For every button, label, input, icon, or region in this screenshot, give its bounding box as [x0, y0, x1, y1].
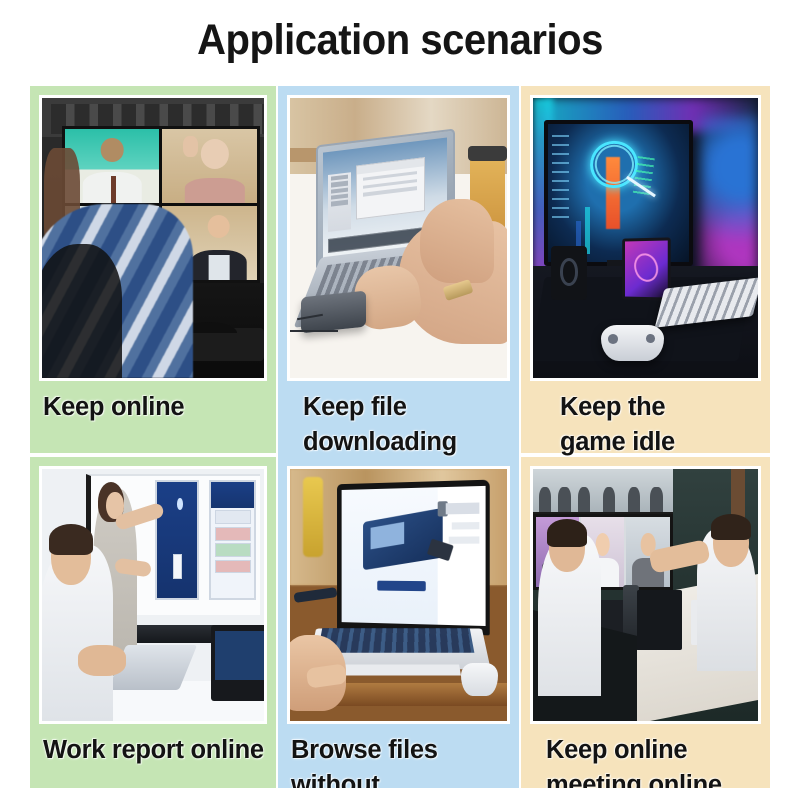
- caption-line-2: meeting online: [546, 768, 761, 788]
- scenario-card-work-report-online[interactable]: Work report online: [30, 457, 276, 788]
- meeting-room-illustration: [533, 469, 758, 721]
- scenario-caption-work-report-online: Work report online: [39, 733, 267, 768]
- scenario-photo-keep-file-downloading: [287, 95, 510, 381]
- scenario-caption-keep-the-game-idle: Keep the game idle: [530, 390, 761, 457]
- laptop-wooden-table-illustration: [290, 469, 507, 721]
- scenario-card-browse-files-without-hibernation[interactable]: Browse files without hibernation: [278, 457, 519, 788]
- scenario-card-keep-online-meeting-online[interactable]: Keep online meeting online: [521, 457, 770, 788]
- scenario-caption-keep-online-meeting-online: Keep online meeting online: [530, 733, 761, 788]
- laptop-hub-illustration: [290, 98, 507, 378]
- caption-line-2: game idle: [560, 425, 761, 457]
- gaming-desk-illustration: [533, 98, 758, 378]
- scenario-caption-keep-file-downloading: Keep file downloading: [287, 390, 510, 457]
- caption-line-1: Keep the: [560, 390, 761, 425]
- scenario-card-keep-online[interactable]: Keep online: [30, 86, 276, 457]
- presentation-illustration: [42, 469, 264, 721]
- scenario-card-keep-file-downloading[interactable]: Keep file downloading: [278, 86, 519, 457]
- scenario-photo-keep-the-game-idle: [530, 95, 761, 381]
- scenario-caption-keep-online: Keep online: [39, 390, 267, 425]
- caption-line-1: Keep file: [303, 390, 510, 425]
- caption-line-1: Keep online: [546, 733, 761, 768]
- page-title: Application scenarios: [28, 0, 772, 62]
- caption-line-1: Browse files without: [291, 733, 510, 788]
- scenario-photo-browse-files-without-hibernation: [287, 466, 510, 724]
- scenario-card-keep-the-game-idle[interactable]: Keep the game idle: [521, 86, 770, 457]
- scenario-photo-keep-online: [39, 95, 267, 381]
- scenario-grid: Keep online: [30, 86, 770, 788]
- scenario-caption-browse-files-without-hibernation: Browse files without hibernation: [287, 733, 510, 788]
- video-conference-illustration: [42, 98, 264, 378]
- scenario-photo-keep-online-meeting-online: [530, 466, 761, 724]
- caption-line-2: downloading: [303, 425, 510, 457]
- scenario-photo-work-report-online: [39, 466, 267, 724]
